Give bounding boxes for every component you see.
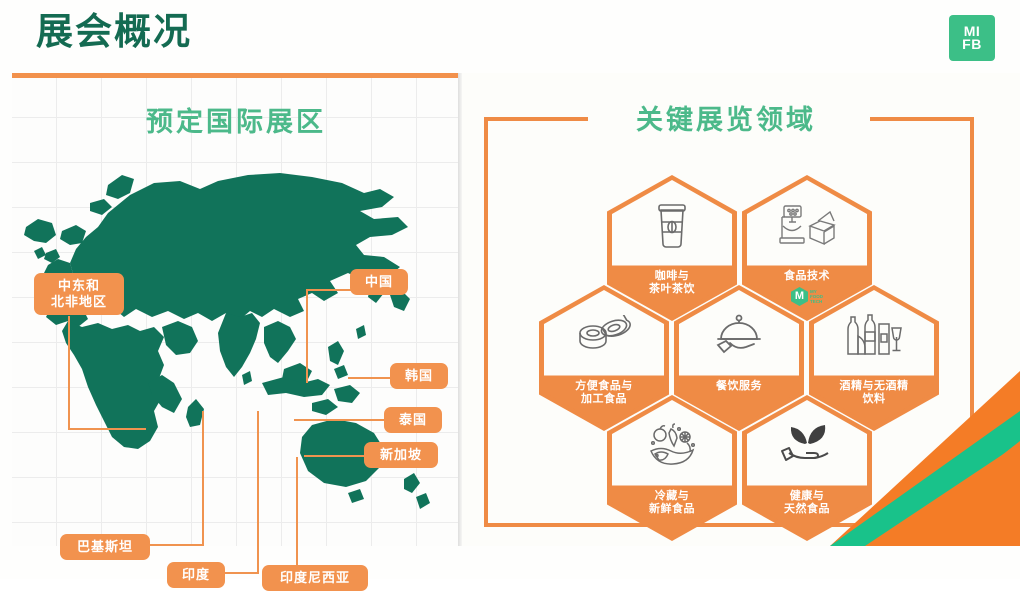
connector-pakistan-v [202,411,204,546]
sector-label: 方便食品与 加工食品 [539,380,669,406]
international-zones-panel: 预定国际展区 [12,73,460,546]
serving-dome-icon [674,305,804,367]
logo-line-2: FB [962,38,982,51]
badge-text: MY FOOD TECH [810,289,823,304]
connector-mena-v [68,316,70,429]
map-label-china[interactable]: 中国 [350,269,408,295]
food-machine-box-icon [742,195,872,257]
connector-china-v [306,289,308,383]
key-sectors-panel: 关键展览领域 咖啡与 茶叶茶饮 [462,73,1020,546]
connector-thailand-h [294,419,386,421]
map-label-korea[interactable]: 韩国 [390,363,448,389]
page-title: 展会概况 [36,10,192,54]
corner-ribbons [790,371,1020,546]
connector-indonesia-v [296,457,298,567]
map-label-pakistan[interactable]: 巴基斯坦 [60,534,150,560]
connector-singapore-h [304,455,366,457]
connector-mena-h [68,428,146,430]
my-food-tech-badge: M MY FOOD TECH [791,287,823,306]
connector-korea-h [348,377,392,379]
map-label-thailand[interactable]: 泰国 [384,407,442,433]
sector-label: 咖啡与 茶叶茶饮 [607,270,737,296]
bottles-glass-icon [809,305,939,367]
mifb-logo: MI FB [949,15,995,61]
map-label-mena[interactable]: 中东和 北非地区 [34,273,124,315]
world-map [12,131,460,531]
slide-root: 展会概况 MI FB 预定国际展区 [0,0,1020,579]
canned-food-icon [539,305,669,367]
coffee-cup-icon [607,195,737,257]
sector-label: 食品技术 [742,270,872,283]
sector-label: 冷藏与 新鲜食品 [607,490,737,516]
map-label-india[interactable]: 印度 [167,562,225,588]
sector-label: 餐饮服务 [674,380,804,393]
connector-india-v [257,411,259,574]
map-label-indonesia[interactable]: 印度尼西亚 [262,565,368,591]
connector-china-h [306,289,352,291]
map-label-singapore[interactable]: 新加坡 [364,442,438,468]
badge-m-icon: M [791,287,808,306]
fresh-produce-icon [607,415,737,477]
world-map-svg [12,131,460,531]
